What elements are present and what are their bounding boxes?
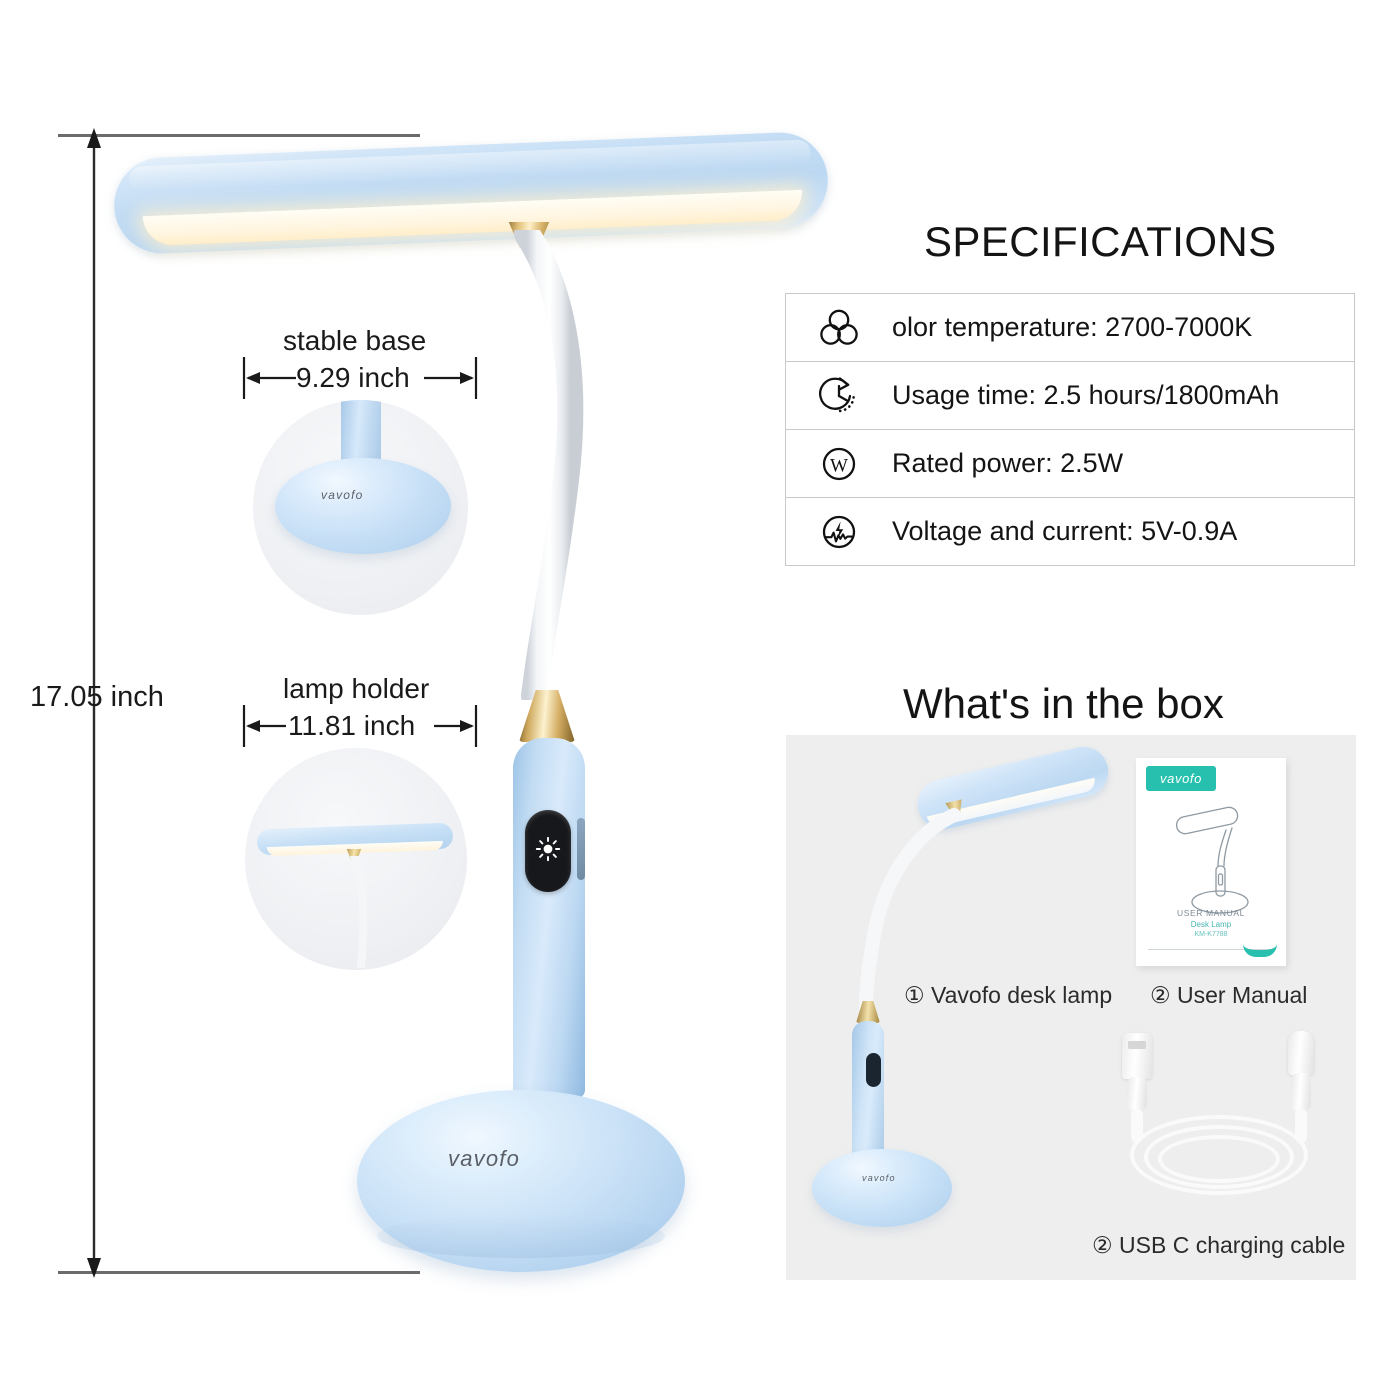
specifications-title: SPECIFICATIONS	[924, 218, 1277, 266]
whats-in-the-box-title: What's in the box	[903, 680, 1224, 728]
brightness-icon	[535, 836, 561, 862]
whats-in-the-box-panel: vavofo ① Vavofo desk lamp vavofo USER MA…	[786, 735, 1356, 1280]
lamp-base-rim	[377, 1214, 665, 1258]
spec-row-rated-power: W Rated power: 2.5W	[786, 430, 1354, 498]
spec-text-usage-time: Usage time: 2.5 hours/1800mAh	[892, 380, 1279, 411]
detail-base-logo: vavofo	[321, 488, 364, 502]
manual-swoosh-accent	[1243, 944, 1277, 957]
box-item-usb-cable	[1108, 1027, 1348, 1207]
usb-a-contacts	[1128, 1041, 1146, 1049]
manual-lamp-drawing	[1164, 800, 1260, 922]
box-item-manual-label: ② User Manual	[1150, 982, 1307, 1009]
gooseneck	[470, 230, 650, 700]
spec-row-usage-time: Usage time: 2.5 hours/1800mAh	[786, 362, 1354, 430]
lamp-head-highlight	[129, 139, 811, 192]
detail-gooseneck	[337, 856, 387, 968]
usb-c-connector	[1288, 1031, 1314, 1075]
spec-text-rated-power: Rated power: 2.5W	[892, 448, 1123, 479]
spec-text-color-temperature: olor temperature: 2700-7000K	[892, 312, 1252, 343]
stable-base-detail-zoom: vavofo	[253, 400, 468, 615]
control-panel[interactable]	[525, 810, 571, 892]
usb-a-strain-relief	[1127, 1077, 1147, 1111]
lamp-holder-callout-title: lamp holder	[283, 673, 429, 705]
box-item-lamp-label: ① Vavofo desk lamp	[904, 982, 1112, 1009]
height-top-reference-line	[58, 134, 420, 137]
specifications-table: olor temperature: 2700-7000K Usage t	[785, 293, 1355, 566]
usage-time-icon	[786, 374, 892, 418]
svg-text:W: W	[830, 455, 848, 476]
total-height-label: 17.05 inch	[30, 681, 164, 714]
detail-base	[275, 458, 451, 554]
product-infographic: 17.05 inch	[0, 0, 1400, 1400]
manual-heading: USER MANUAL	[1136, 908, 1286, 918]
lamp-holder-detail-zoom	[245, 748, 467, 970]
box-item-usb-cable-label: ② USB C charging cable	[1092, 1232, 1345, 1259]
spec-row-voltage-current: Voltage and current: 5V-0.9A	[786, 498, 1354, 566]
spec-row-color-temperature: olor temperature: 2700-7000K	[786, 294, 1354, 362]
voltage-current-icon	[786, 510, 892, 554]
spec-text-voltage-current: Voltage and current: 5V-0.9A	[892, 516, 1237, 547]
usb-c-strain-relief	[1291, 1073, 1311, 1111]
stable-base-measure: 9.29 inch	[296, 362, 410, 394]
usb-cable-coil-inner	[1158, 1135, 1280, 1183]
box-lamp-gooseneck	[842, 805, 972, 1010]
manual-model: KM-K7788	[1136, 931, 1286, 938]
side-indicator-strip	[577, 818, 585, 880]
box-lamp-control-panel	[866, 1053, 881, 1087]
usb-a-connector	[1122, 1033, 1152, 1079]
manual-subtitle: Desk Lamp	[1136, 920, 1286, 929]
box-lamp-base	[812, 1149, 952, 1227]
base-brand-logo: vavofo	[448, 1146, 520, 1172]
lamp-holder-measure: 11.81 inch	[288, 710, 415, 742]
height-bottom-reference-line	[58, 1271, 420, 1274]
manual-brand-logo: vavofo	[1146, 766, 1216, 791]
rated-power-icon: W	[786, 442, 892, 486]
box-lamp-base-logo: vavofo	[862, 1173, 896, 1183]
lamp-stem-handle	[513, 738, 585, 1098]
box-item-user-manual: vavofo USER MANUAL Desk Lamp KM-K7788	[1136, 758, 1286, 966]
stable-base-callout-title: stable base	[283, 325, 426, 357]
color-temperature-icon	[786, 306, 892, 350]
